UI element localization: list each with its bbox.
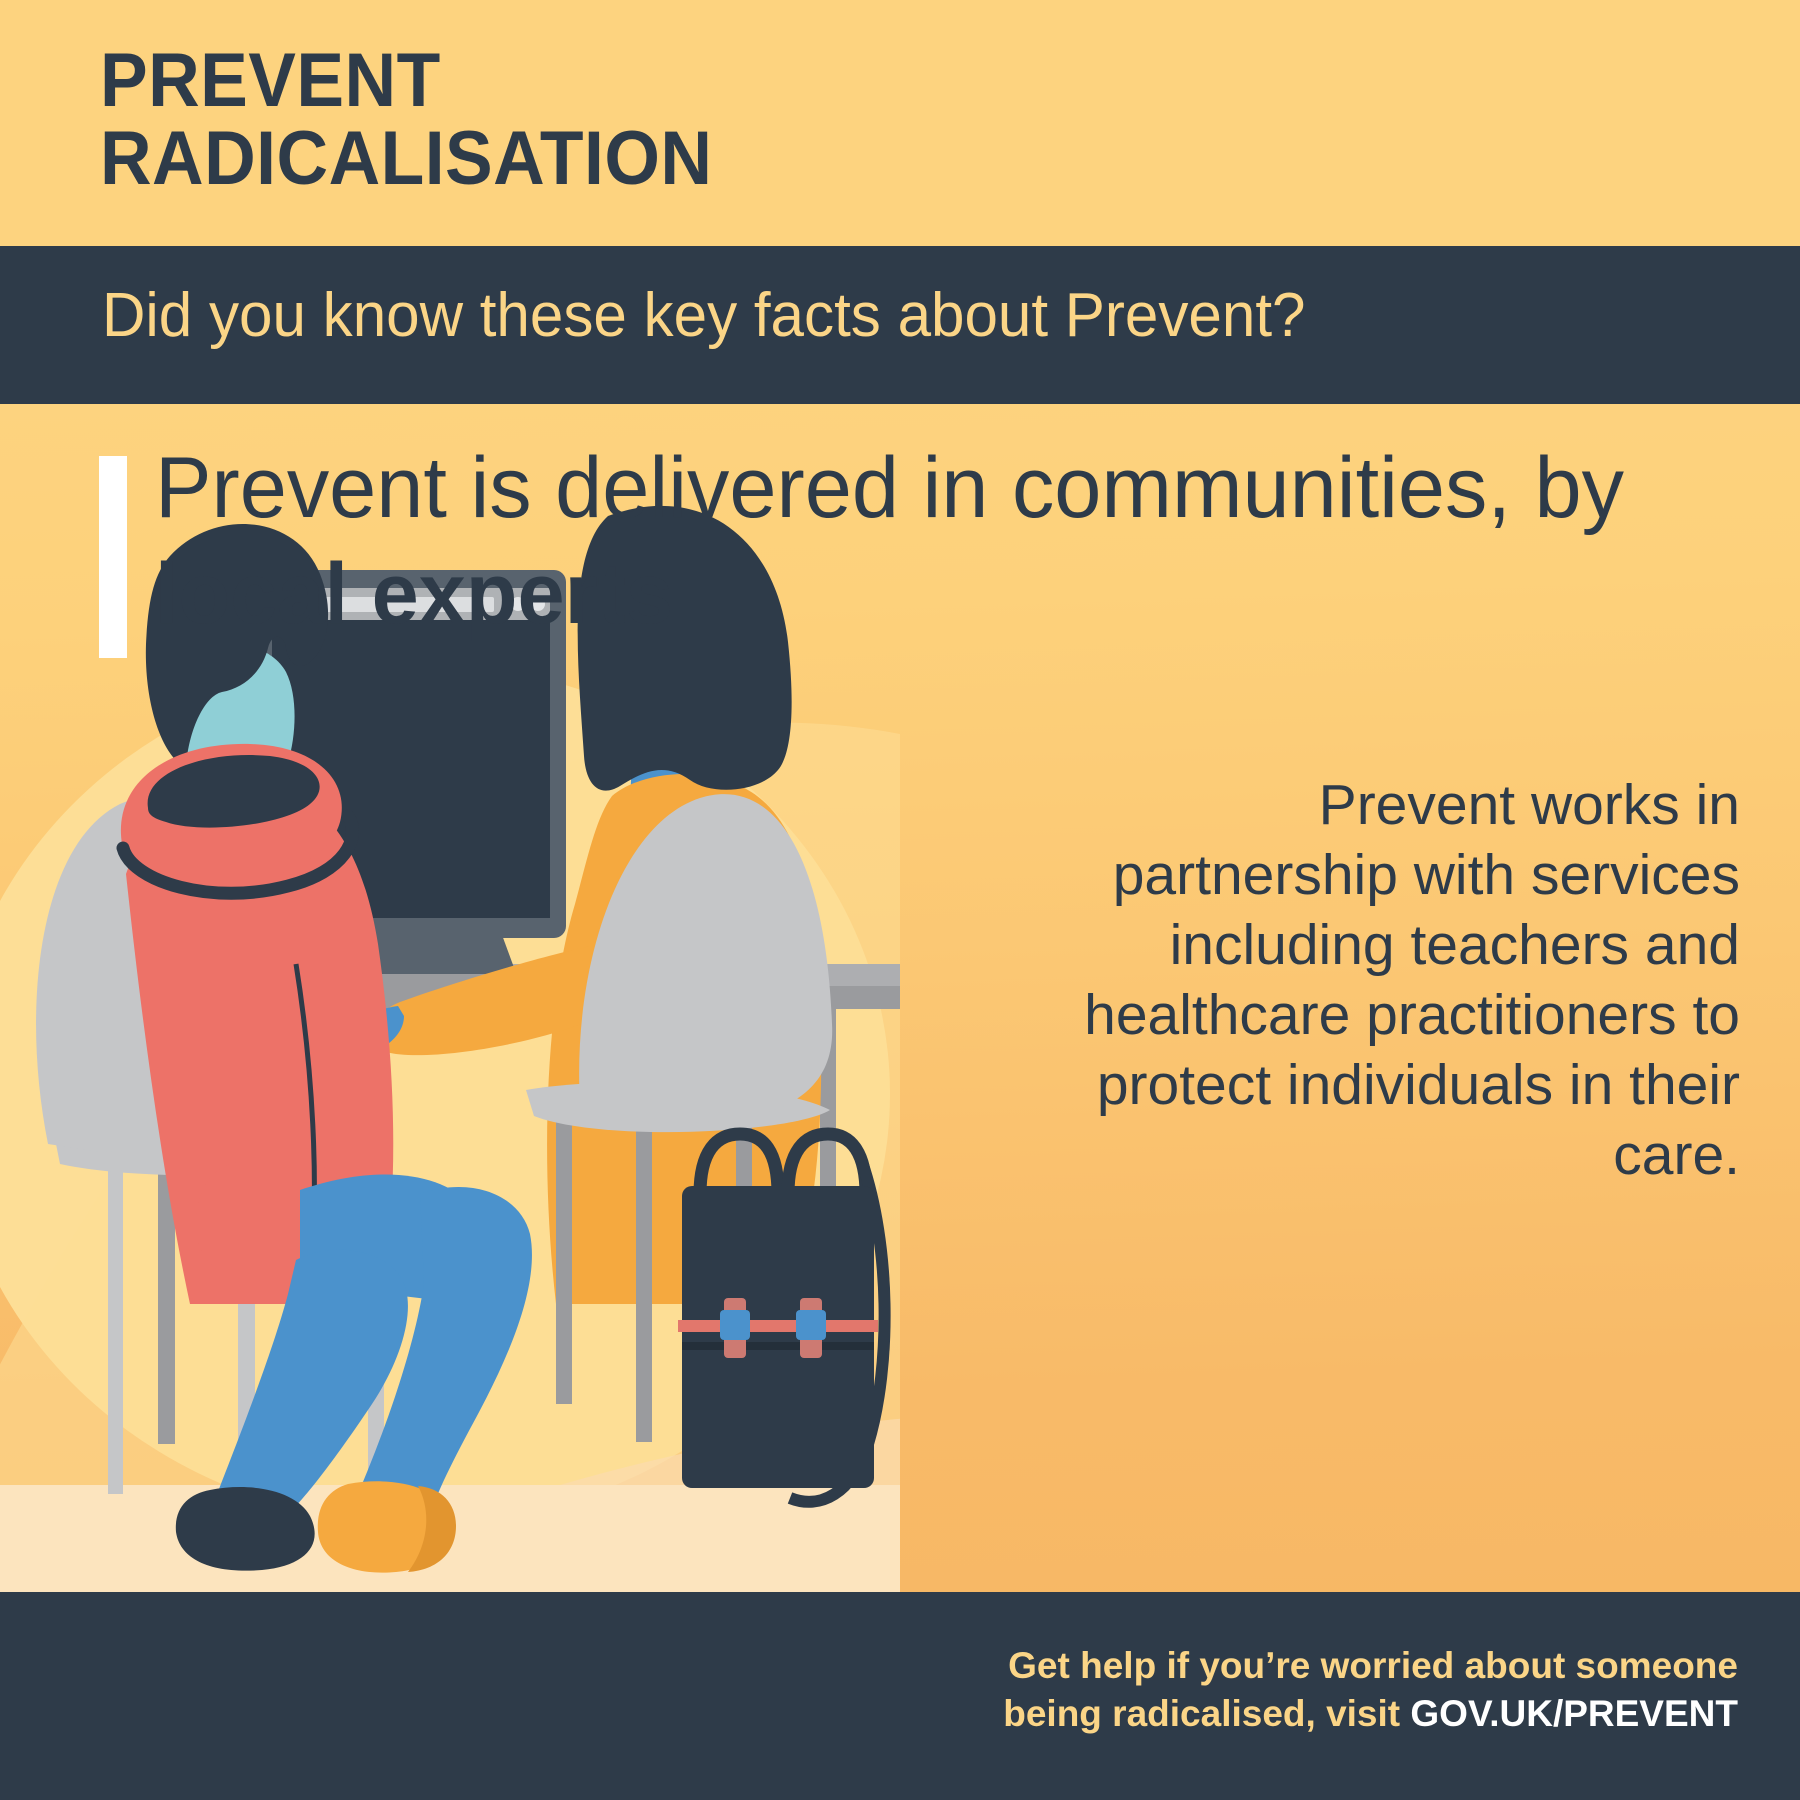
subtitle-text: Did you know these key facts about Preve… (102, 280, 1305, 352)
infographic-poster: PREVENT RADICALISATION Did you know thes… (0, 0, 1800, 1800)
body-paragraph: Prevent works in partnership with servic… (1080, 770, 1740, 1190)
page-title: PREVENT RADICALISATION (100, 42, 1600, 198)
footer-text: Get help if you’re worried about someone… (838, 1642, 1738, 1738)
backpack (678, 1134, 885, 1502)
headline-plain: Prevent is delivered in communities, by (155, 440, 1624, 536)
headline: Prevent is delivered in communities, by … (155, 435, 1731, 647)
headline-bold: local experts (155, 546, 673, 642)
title-line-1: PREVENT (100, 42, 1510, 120)
footer-line-1: Get help if you’re worried about someone (1008, 1645, 1738, 1686)
title-line-2: RADICALISATION (100, 120, 1510, 198)
footer-url[interactable]: GOV.UK/PREVENT (1410, 1693, 1738, 1734)
footer-line-2-prefix: being radicalised, visit (1003, 1693, 1410, 1734)
footer-band: Get help if you’re worried about someone… (0, 1592, 1800, 1800)
subtitle-band: Did you know these key facts about Preve… (0, 246, 1800, 404)
accent-bar (99, 456, 127, 658)
